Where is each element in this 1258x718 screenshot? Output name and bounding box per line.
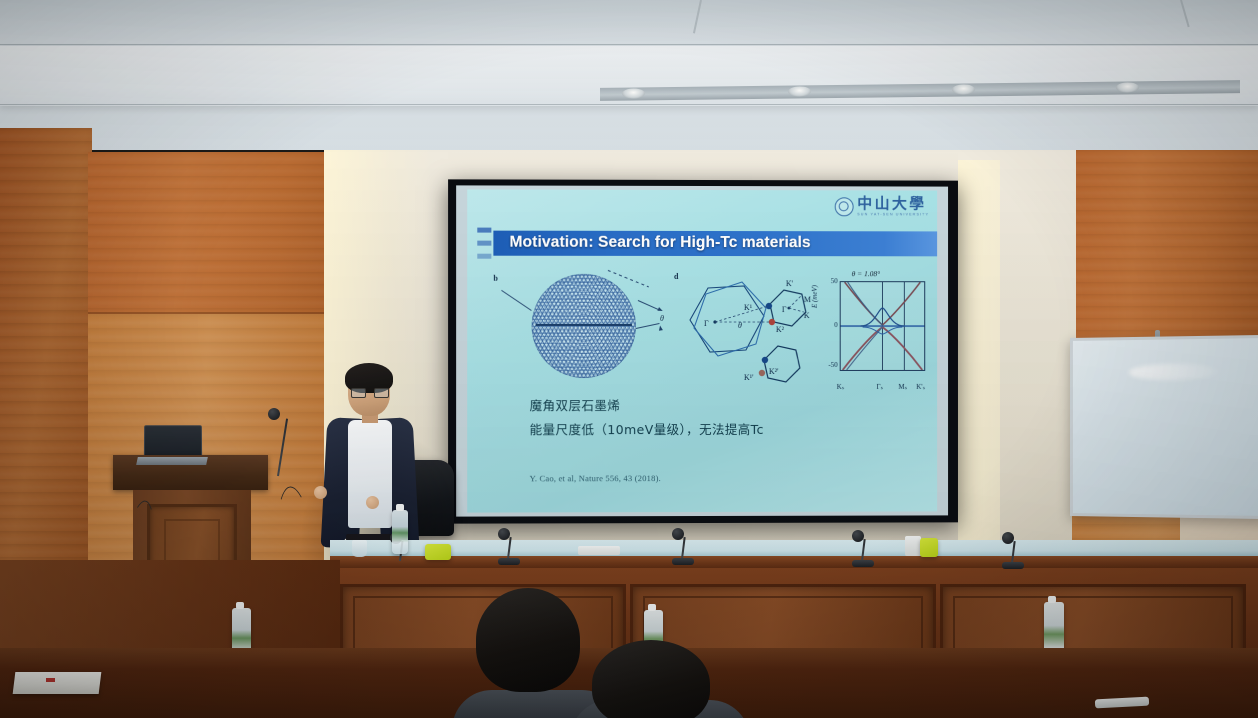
svg-text:K': K' (786, 279, 794, 288)
presenter-right-hand (366, 496, 379, 509)
figure-panel-d: d (674, 264, 824, 386)
leader-line (636, 323, 660, 329)
logo-chinese-name: 中山大學 (857, 196, 929, 211)
microphone-head-icon (1002, 532, 1014, 544)
svg-text:K²': K²' (769, 367, 779, 376)
presenter-left-hand (314, 486, 327, 499)
moire-axis-line (536, 324, 632, 326)
slide-body-line-1: 魔角双层石墨烯 (530, 394, 930, 418)
downlight-icon (788, 86, 811, 96)
theta-annotation: θ (660, 314, 664, 323)
microphone-head-icon (672, 528, 684, 540)
slide-body-line-2: 能量尺度低（10meV量级），无法提高Tc (530, 418, 930, 442)
slide-title-bar: Motivation: Search for High-Tc materials… (493, 231, 937, 257)
water-bottle (392, 510, 408, 554)
decor-bar (477, 241, 491, 246)
chart-title: θ = 1.08° (852, 269, 880, 278)
band-structure-chart: θ = 1.08° E (meV) 50 0 -50 (812, 270, 929, 382)
microphone-head-icon (852, 530, 864, 542)
chart-plot-area: 50 0 -50 (840, 281, 926, 371)
presenter-shirt (348, 420, 392, 528)
microphone-base (852, 560, 874, 567)
chart-ylabel: E (meV) (811, 285, 819, 308)
decor-bar (477, 254, 491, 259)
drinking-cup (352, 540, 367, 557)
lecture-hall-photo: 中山大學 SUN YAT-SEN UNIVERSITY Motivation: … (0, 0, 1258, 718)
eyeglasses-icon (351, 388, 387, 396)
decor-bar (477, 228, 491, 233)
slide-figure: b θ d (489, 264, 937, 386)
ceiling-seam (0, 104, 1258, 105)
microphone-base (498, 558, 520, 565)
svg-text:K¹': K¹' (744, 373, 754, 382)
presentation-slide: 中山大學 SUN YAT-SEN UNIVERSITY Motivation: … (467, 189, 937, 512)
leader-line (638, 300, 659, 310)
microphone-base (672, 558, 694, 565)
microphone-head-icon (498, 528, 510, 540)
svg-text:θ: θ (738, 321, 742, 330)
chart-xtick: Γₛ (877, 383, 884, 391)
dispenser-bottle (905, 536, 921, 556)
lectern-top (113, 455, 268, 490)
chart-xtick: Kₛ (837, 383, 845, 391)
audience-head (592, 640, 710, 718)
ceiling-seam (0, 44, 1258, 45)
chart-ytick: 0 (834, 321, 837, 329)
svg-text:K¹: K¹ (744, 303, 753, 312)
slide-title: Motivation: Search for High-Tc materials (509, 234, 810, 253)
svg-text:Γ: Γ (704, 319, 709, 328)
projection-screen-surface: 中山大學 SUN YAT-SEN UNIVERSITY Motivation: … (456, 185, 948, 516)
yellow-dispenser (920, 538, 938, 557)
paper-stack (13, 672, 102, 694)
yellow-pouch (425, 544, 451, 560)
downlight-icon (1116, 82, 1139, 92)
paper-bookmark (46, 678, 55, 682)
foreground-wall-panel (0, 560, 340, 656)
svg-text:Γ: Γ (782, 305, 787, 314)
lectern-microphone (268, 408, 292, 474)
arrow-icon (658, 325, 663, 331)
slide-citation: Y. Cao, et al, Nature 556, 43 (2018). (530, 473, 661, 483)
right-wall-cream (1000, 150, 1076, 570)
microphone-base (1002, 562, 1024, 569)
chart-xtick: Mₛ (898, 383, 907, 391)
brillouin-zone-diagram: Γ K¹ K² K²' K¹' K' M K Γ θ (682, 268, 828, 384)
svg-text:K: K (804, 311, 810, 320)
chart-ytick: 50 (831, 277, 838, 285)
downlight-icon (622, 88, 645, 98)
slide-decor-bars (477, 228, 491, 259)
panel-label-b: b (493, 274, 497, 283)
panel-label-d: d (674, 272, 678, 281)
arrow-icon (657, 307, 663, 313)
audience-head (476, 588, 580, 692)
laptop-base (136, 457, 208, 465)
logo-english-name: SUN YAT-SEN UNIVERSITY (857, 213, 929, 217)
seal-icon (834, 197, 853, 216)
whiteboard (1070, 335, 1258, 519)
figure-panel-b: b θ (489, 264, 670, 386)
slide-body-text: 魔角双层石墨烯 能量尺度低（10meV量级），无法提高Tc (530, 394, 930, 442)
chart-ytick: -50 (828, 361, 837, 369)
chart-xtick: K'ₛ (916, 383, 925, 391)
projection-screen: 中山大學 SUN YAT-SEN UNIVERSITY Motivation: … (448, 179, 958, 523)
microphone-head-icon (268, 408, 280, 420)
right-wall-wood-upper (1072, 150, 1258, 350)
leader-line (501, 290, 532, 311)
remote-control (578, 546, 620, 555)
whiteboard-glare (1129, 363, 1218, 380)
microphone-rod (277, 419, 288, 477)
university-logo: 中山大學 SUN YAT-SEN UNIVERSITY (834, 196, 929, 216)
svg-text:K²: K² (776, 325, 785, 334)
downlight-icon (952, 84, 975, 94)
